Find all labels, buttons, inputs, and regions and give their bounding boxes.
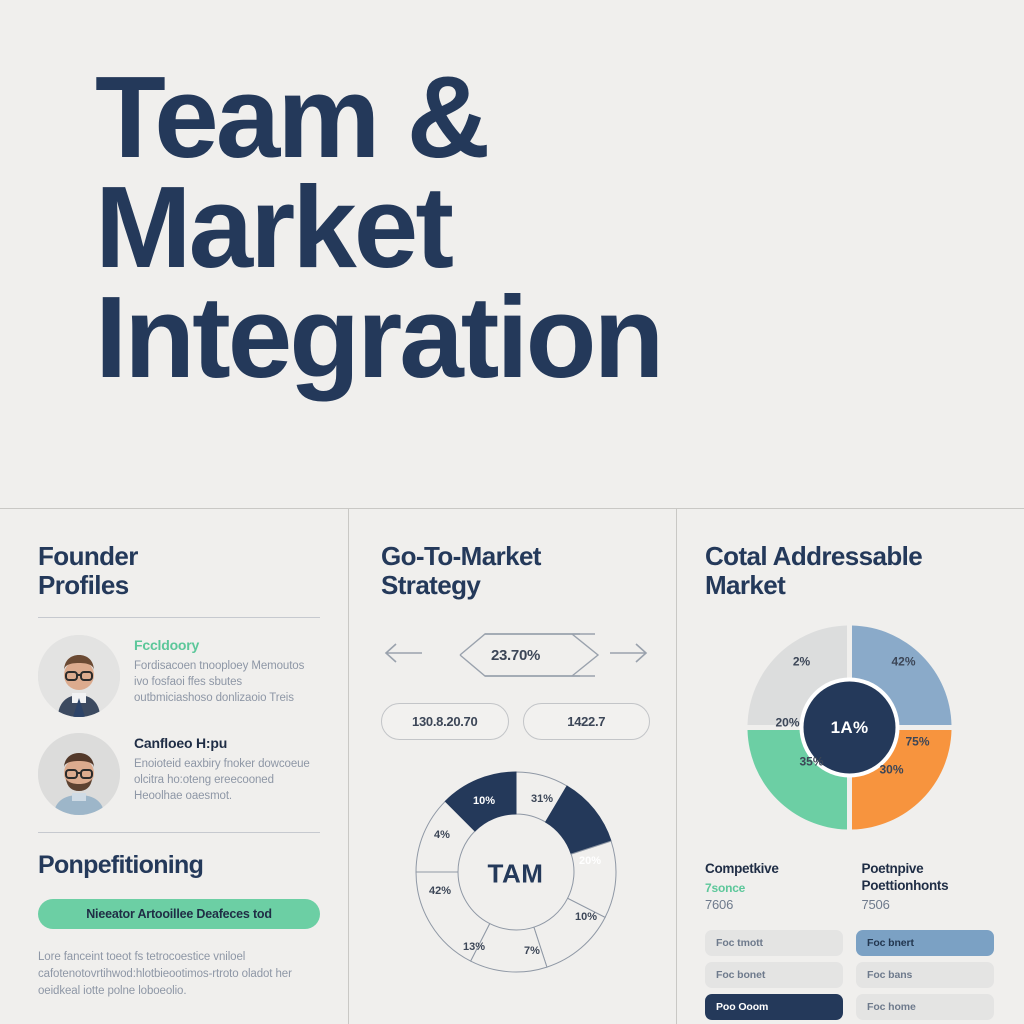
positioning-title: Ponpefitioning <box>38 851 320 880</box>
stat-block: Poetnpive Poettionhonts 7506 <box>862 861 995 912</box>
list-item[interactable]: Foc tmott <box>705 930 843 956</box>
founder-text: Fccldoory Fordisacoen tnooploey Memoutos… <box>134 635 320 706</box>
metric-chip-row: 130.8.20.70 1422.7 <box>381 703 650 740</box>
founder-profiles-panel: Founder Profiles <box>0 509 348 1024</box>
list-item[interactable]: Foc bonet <box>705 962 843 988</box>
option-bar-column-right: Foc bnert Foc bans Foc home <box>856 930 994 1024</box>
svg-text:42%: 42% <box>891 655 915 669</box>
svg-text:13%: 13% <box>462 941 484 953</box>
founder-list: Fccldoory Fordisacoen tnooploey Memoutos… <box>38 635 320 815</box>
positioning-section-rule <box>38 832 320 833</box>
tam-pie-chart: 42% 75% 30% 20% 35% 2% 1A% <box>742 620 957 835</box>
svg-text:2%: 2% <box>793 655 811 669</box>
pie-center-label: 1A% <box>742 718 957 738</box>
metric-chip[interactable]: 1422.7 <box>523 703 651 740</box>
go-to-market-title: Go-To-Market Strategy <box>381 542 650 600</box>
avatar <box>38 733 120 815</box>
stat-label: Competkive <box>705 861 838 877</box>
founder-text: Canfloeo H:pu Enoioteid eaxbiry fnoker d… <box>134 733 320 804</box>
tam-title: Cotal Addressable Market <box>705 542 994 600</box>
growth-value-badge: 23.70% <box>430 626 602 684</box>
svg-text:30%: 30% <box>879 763 903 777</box>
svg-text:10%: 10% <box>574 911 596 923</box>
positioning-description: Lore fanceint toeot fs tetrocoestice vni… <box>38 949 320 1000</box>
poster-canvas: Team & Market Integration Founder Profil… <box>0 0 1024 1024</box>
list-item[interactable]: Canfloeo H:pu Enoioteid eaxbiry fnoker d… <box>38 733 320 815</box>
stat-block: Competkive 7sonce 7606 <box>705 861 838 912</box>
list-item[interactable]: Foc bnert <box>856 930 994 956</box>
stat-value: 7506 <box>862 897 995 912</box>
stat-label: Poetnpive Poettionhonts <box>862 861 995 894</box>
list-item[interactable]: Poo Ooom <box>705 994 843 1020</box>
list-item[interactable]: Foc home <box>856 994 994 1020</box>
avatar <box>38 635 120 717</box>
svg-text:7%: 7% <box>524 945 540 957</box>
arrow-right-icon[interactable] <box>608 640 650 671</box>
total-addressable-market-panel: Cotal Addressable Market 42% 75% 30% 20%… <box>677 509 1024 1024</box>
metric-chip[interactable]: 130.8.20.70 <box>381 703 509 740</box>
donut-center-label: TAM <box>396 859 636 890</box>
founder-name: Canfloeo H:pu <box>134 736 320 751</box>
list-item[interactable]: Foc bans <box>856 962 994 988</box>
svg-text:10%: 10% <box>472 795 494 807</box>
svg-text:35%: 35% <box>799 755 823 769</box>
option-bar-groups: Foc tmott Foc bonet Poo Ooom Foc bnert F… <box>705 930 994 1024</box>
stat-subtitle: 7sonce <box>705 881 838 895</box>
stat-value: 7606 <box>705 897 838 912</box>
hero-section: Team & Market Integration <box>95 62 925 393</box>
founder-profiles-title: Founder Profiles <box>38 542 320 600</box>
positioning-panel: Ponpefitioning Nieeator Artooillee Deafe… <box>38 851 320 1000</box>
founder-description: Fordisacoen tnooploey Memoutos ivo fosfa… <box>134 658 320 707</box>
growth-percentage: 23.70% <box>491 647 540 664</box>
market-stats-row: Competkive 7sonce 7606 Poetnpive Poettio… <box>705 861 994 912</box>
svg-text:4%: 4% <box>434 829 450 841</box>
tam-donut-chart: 10% 31% 20% 10% 7% 13% 42% 4% TAM <box>396 764 636 984</box>
status-badge[interactable]: Nieeator Artooillee Deafeces tod <box>38 899 320 929</box>
founder-section-rule <box>38 617 320 618</box>
option-bar-column-left: Foc tmott Foc bonet Poo Ooom <box>705 930 843 1024</box>
svg-text:31%: 31% <box>530 793 552 805</box>
arrow-left-icon[interactable] <box>382 640 424 671</box>
growth-indicator-row: 23.70% <box>381 626 650 684</box>
page-title: Team & Market Integration <box>95 62 925 393</box>
founder-name: Fccldoory <box>134 638 320 653</box>
founder-description: Enoioteid eaxbiry fnoker dowcoeue olcitr… <box>134 756 320 805</box>
go-to-market-panel: Go-To-Market Strategy 23.70% <box>349 509 676 1024</box>
list-item[interactable]: Fccldoory Fordisacoen tnooploey Memoutos… <box>38 635 320 717</box>
